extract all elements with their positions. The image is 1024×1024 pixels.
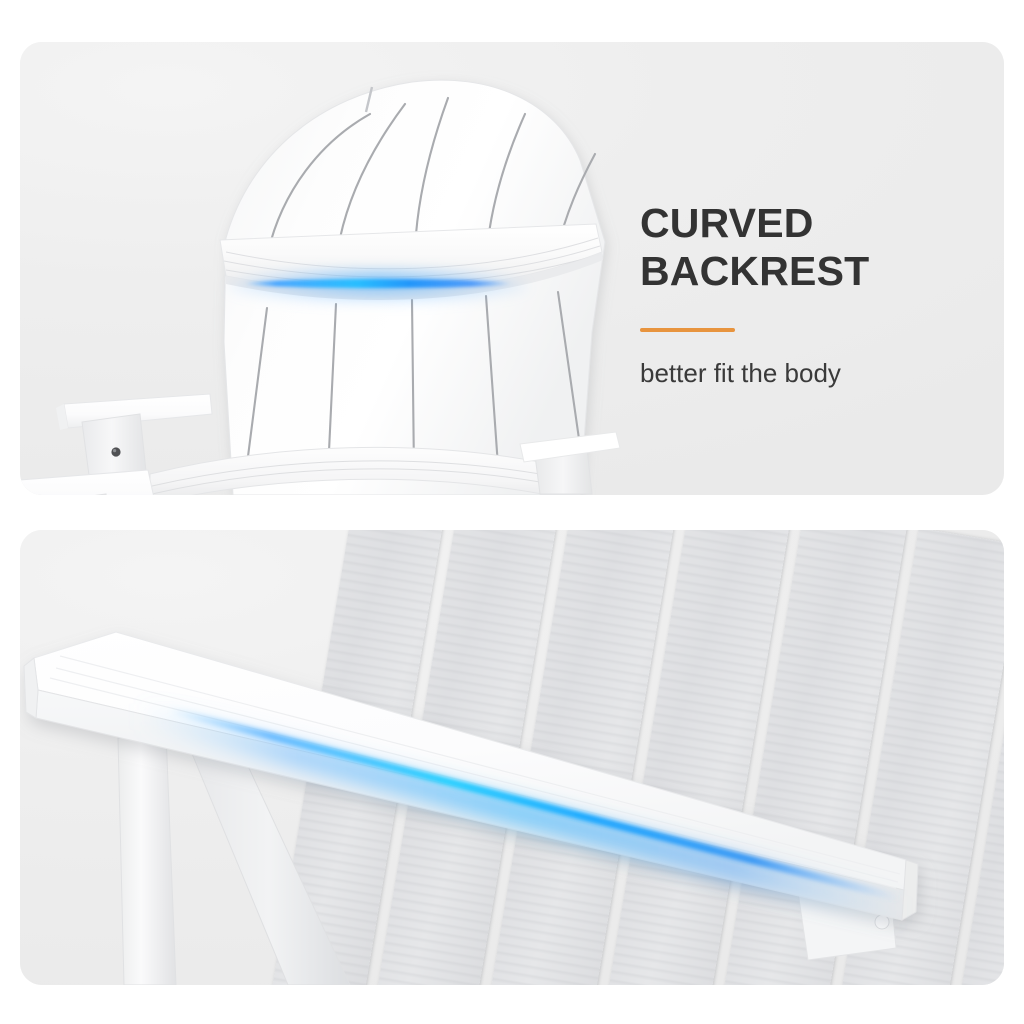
bracket-screw [875,915,889,929]
front-leg-post [118,732,176,985]
screw-head [111,447,120,456]
panel-headline-line1: CURVED [640,200,980,248]
armrest-plank-lower [20,470,154,495]
panel-subtitle: better fit the body [640,358,980,389]
feature-panel-curved-backrest: CURVED BACKREST better fit the body [20,42,1004,495]
left-armrest-assembly [20,352,320,495]
page-canvas: CURVED BACKREST better fit the body [0,0,1024,1024]
panel-headline-line2: BACKREST [640,248,980,296]
accent-rule [640,328,735,332]
armrest-vector [20,530,1004,985]
screw-highlight [113,449,116,452]
feature-panel-wide-armrests: WIDE ARMRESTS for better arm relaxation [20,530,1004,985]
panel-text-curved-backrest: CURVED BACKREST better fit the body [640,200,980,415]
armrest-illustration [20,530,1004,985]
